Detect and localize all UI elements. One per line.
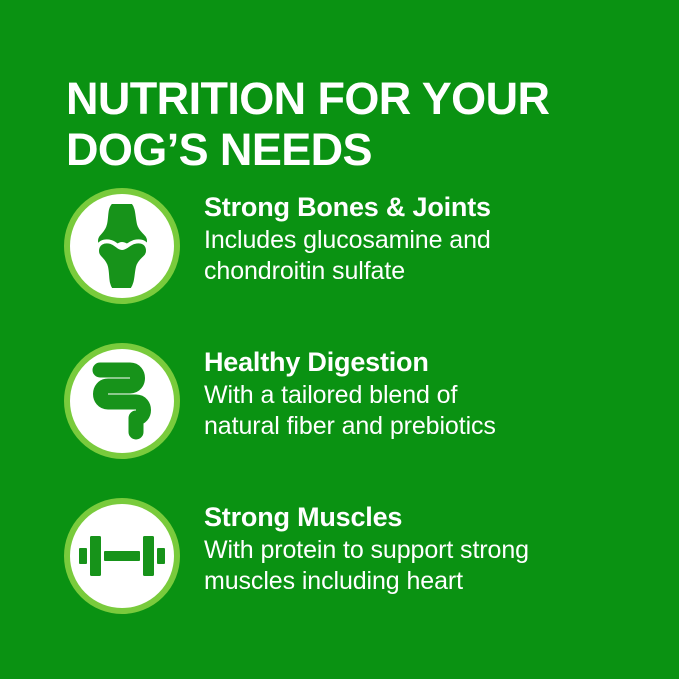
nutrition-benefits-poster: NUTRITION FOR YOUR DOG’S NEEDS Strong Bo… (0, 0, 679, 679)
bone-joint-icon-badge (64, 188, 180, 304)
benefit-text-bones-joints: Strong Bones & Joints Includes glucosami… (204, 178, 679, 286)
benefit-description: Includes glucosamine and chondroitin sul… (204, 225, 634, 286)
intestine-icon (86, 358, 158, 444)
dumbbell-icon-badge (64, 498, 180, 614)
bone-joint-icon (85, 200, 159, 292)
benefit-description: With a tailored blend of natural fiber a… (204, 380, 634, 441)
benefit-title: Healthy Digestion (204, 347, 679, 378)
page-title: NUTRITION FOR YOUR DOG’S NEEDS (66, 74, 626, 175)
benefit-item-bones-joints: Strong Bones & Joints Includes glucosami… (0, 178, 679, 333)
benefit-description: With protein to support strong muscles i… (204, 535, 634, 596)
intestine-icon-badge (64, 343, 180, 459)
benefit-item-muscles: Strong Muscles With protein to support s… (0, 488, 679, 643)
benefits-list: Strong Bones & Joints Includes glucosami… (0, 178, 679, 643)
benefit-text-digestion: Healthy Digestion With a tailored blend … (204, 333, 679, 441)
benefit-title: Strong Bones & Joints (204, 192, 679, 223)
benefit-item-digestion: Healthy Digestion With a tailored blend … (0, 333, 679, 488)
benefit-title: Strong Muscles (204, 502, 679, 533)
benefit-text-muscles: Strong Muscles With protein to support s… (204, 488, 679, 596)
dumbbell-icon (79, 531, 165, 581)
